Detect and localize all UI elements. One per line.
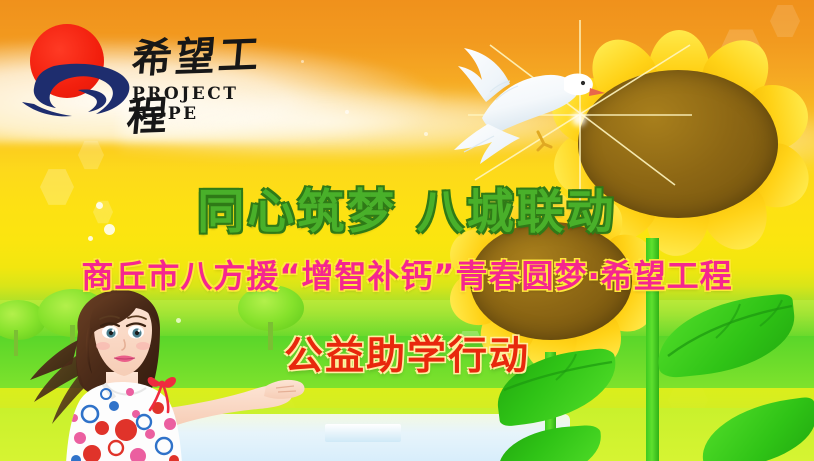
bokeh-hexagon <box>40 168 74 206</box>
logo-swoosh-icon <box>20 60 132 118</box>
white-block <box>325 424 401 442</box>
headline-line-1: 同心筑梦 八城联动 <box>197 173 616 242</box>
dove-icon <box>452 26 612 166</box>
promotional-poster: 希望工程 PROJECT HOPE 同心筑梦 八城联动 商丘市八方援“增智补钙”… <box>0 0 814 461</box>
illustrated-woman <box>18 288 318 461</box>
bokeh-dot <box>301 60 304 63</box>
bokeh-hexagon <box>78 140 104 170</box>
bokeh-dot <box>104 224 115 235</box>
bokeh-hexagon <box>770 4 800 38</box>
logo-english-text: PROJECT HOPE <box>132 84 274 124</box>
bokeh-dot <box>88 236 93 241</box>
headline-line-3: 公益助学行动 <box>284 325 530 381</box>
project-hope-logo: 希望工程 PROJECT HOPE <box>14 22 274 118</box>
logo-chinese-text: 希望工程 <box>125 22 280 143</box>
bokeh-dot <box>345 110 349 114</box>
bokeh-dot <box>424 132 428 136</box>
bokeh-dot <box>96 202 103 209</box>
headline-line-2: 商丘市八方援“增智补钙”青春圆梦·希望工程 <box>81 251 732 297</box>
